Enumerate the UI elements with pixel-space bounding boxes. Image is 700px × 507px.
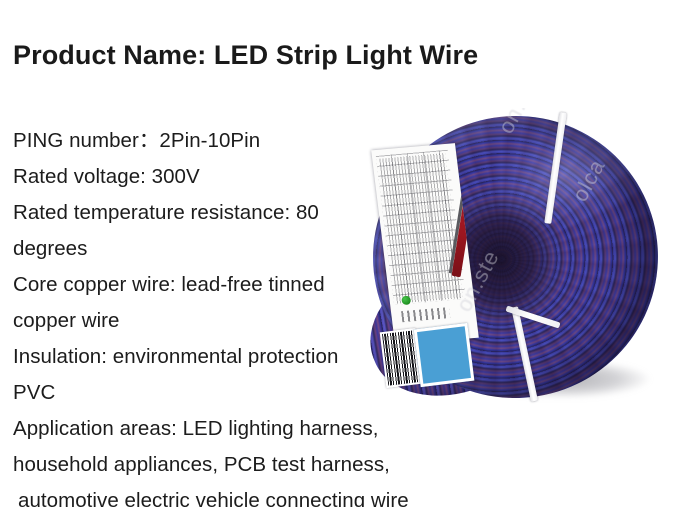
page-title: Product Name: LED Strip Light Wire: [13, 40, 478, 71]
label-green-dot-icon: [401, 295, 411, 305]
label-certification-marks: [401, 307, 450, 322]
spec-line-application-areas-cont2: automotive electric vehicle connecting w…: [13, 483, 433, 507]
blue-square-swatch: [414, 323, 475, 387]
product-detail-panel: Product Name: LED Strip Light Wire PING …: [0, 0, 700, 507]
product-image-wire-coil: on.store olca on.ste: [355, 108, 655, 428]
spec-line-application-areas-cont1: household appliances, PCB test harness,: [13, 447, 433, 483]
